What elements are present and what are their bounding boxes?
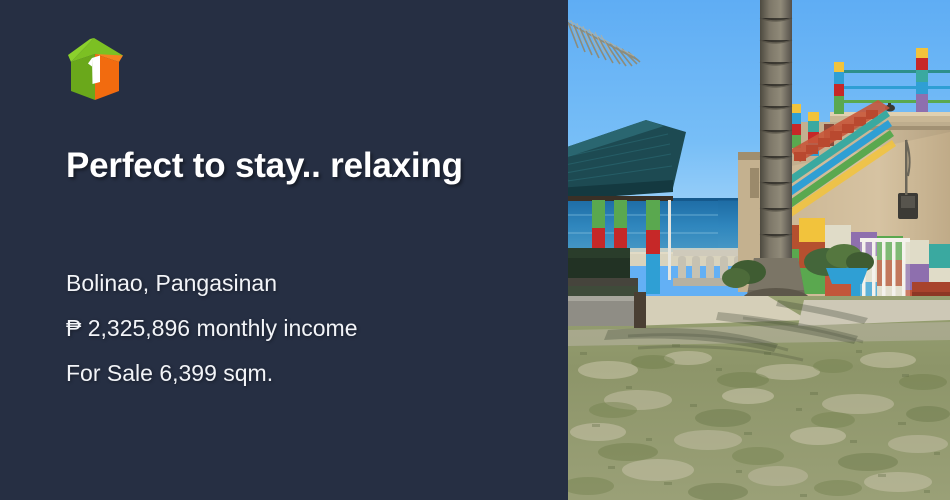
listing-location: Bolinao, Pangasinan xyxy=(66,272,536,295)
property-listing-card: Perfect to stay.. relaxing Bolinao, Pang… xyxy=(0,0,950,500)
listing-info-panel: Perfect to stay.. relaxing Bolinao, Pang… xyxy=(0,0,568,500)
listing-title: Perfect to stay.. relaxing xyxy=(66,143,536,189)
listing-details: Bolinao, Pangasinan ₱ 2,325,896 monthly … xyxy=(66,272,536,385)
listing-price: ₱ 2,325,896 monthly income xyxy=(66,317,536,340)
concrete-slab xyxy=(568,286,646,328)
listing-type-area: For Sale 6,399 sqm. xyxy=(66,362,536,385)
house-logo-icon[interactable] xyxy=(66,36,528,102)
property-photo xyxy=(568,0,950,500)
